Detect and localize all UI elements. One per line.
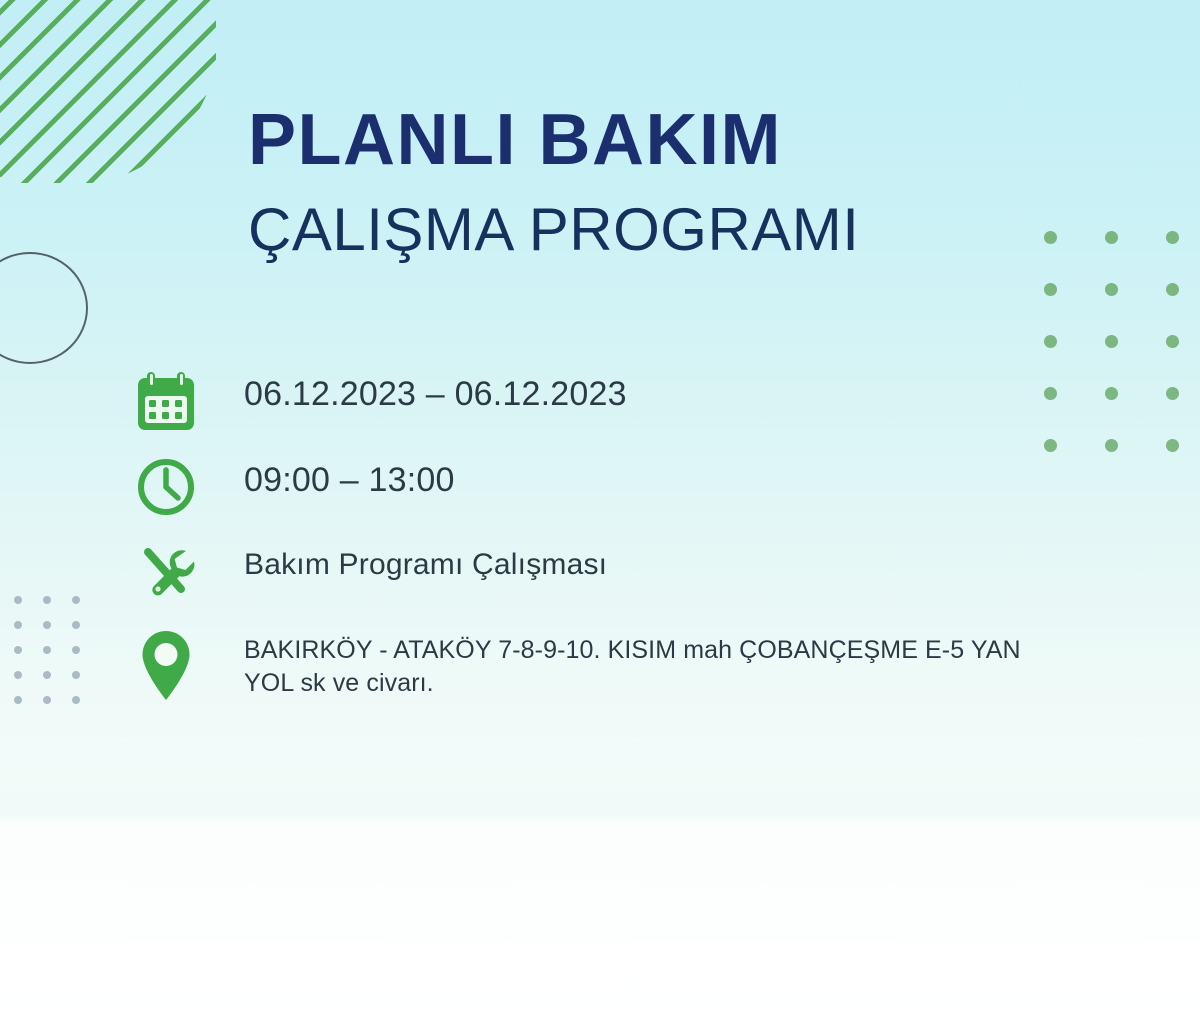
- dot: [14, 596, 22, 604]
- dot: [72, 596, 80, 604]
- dot: [72, 646, 80, 654]
- dot: [1166, 439, 1179, 452]
- dot: [43, 696, 51, 704]
- dot: [1166, 231, 1179, 244]
- page-title: PLANLI BAKIM ÇALIŞMA PROGRAMI: [248, 104, 1028, 260]
- dot: [14, 671, 22, 679]
- dot: [1105, 335, 1118, 348]
- dot: [14, 696, 22, 704]
- detail-value-date: 06.12.2023 – 06.12.2023: [244, 370, 627, 413]
- dot: [1044, 231, 1057, 244]
- location-pin-icon: [136, 628, 200, 694]
- detail-row-time: 09:00 – 13:00: [136, 456, 1116, 542]
- dot: [72, 621, 80, 629]
- dot: [43, 621, 51, 629]
- detail-list: 06.12.2023 – 06.12.2023 09:00 – 13:00: [136, 370, 1116, 714]
- dot: [43, 646, 51, 654]
- dot: [1044, 335, 1057, 348]
- stripe-quarter-disc: [0, 0, 216, 183]
- tools-icon: [136, 542, 200, 608]
- detail-row-date: 06.12.2023 – 06.12.2023: [136, 370, 1116, 456]
- dot: [43, 596, 51, 604]
- detail-row-work-type: Bakım Programı Çalışması: [136, 542, 1116, 628]
- dot: [1166, 283, 1179, 296]
- dot: [1105, 283, 1118, 296]
- diagonal-stripes-decoration: [0, 0, 216, 183]
- dot: [43, 671, 51, 679]
- dot: [72, 696, 80, 704]
- detail-value-work-type: Bakım Programı Çalışması: [244, 542, 607, 583]
- dot: [1166, 387, 1179, 400]
- dot-grid-left: [14, 596, 101, 721]
- detail-row-address: BAKIRKÖY - ATAKÖY 7-8-9-10. KISIM mah ÇO…: [136, 628, 1116, 714]
- title-line-main: PLANLI BAKIM: [248, 104, 1028, 176]
- planned-maintenance-poster: PLANLI BAKIM ÇALIŞMA PROGRAMI: [0, 0, 1200, 1025]
- dot: [1105, 231, 1118, 244]
- dot: [1166, 335, 1179, 348]
- circle-outline-decoration: [0, 252, 88, 364]
- detail-value-address: BAKIRKÖY - ATAKÖY 7-8-9-10. KISIM mah ÇO…: [244, 628, 1074, 700]
- detail-value-time: 09:00 – 13:00: [244, 456, 455, 499]
- dot: [72, 671, 80, 679]
- dot: [14, 646, 22, 654]
- title-line-sub: ÇALIŞMA PROGRAMI: [248, 200, 1028, 260]
- calendar-icon: [136, 370, 200, 436]
- dot: [1044, 283, 1057, 296]
- clock-icon: [136, 456, 200, 522]
- dot: [14, 621, 22, 629]
